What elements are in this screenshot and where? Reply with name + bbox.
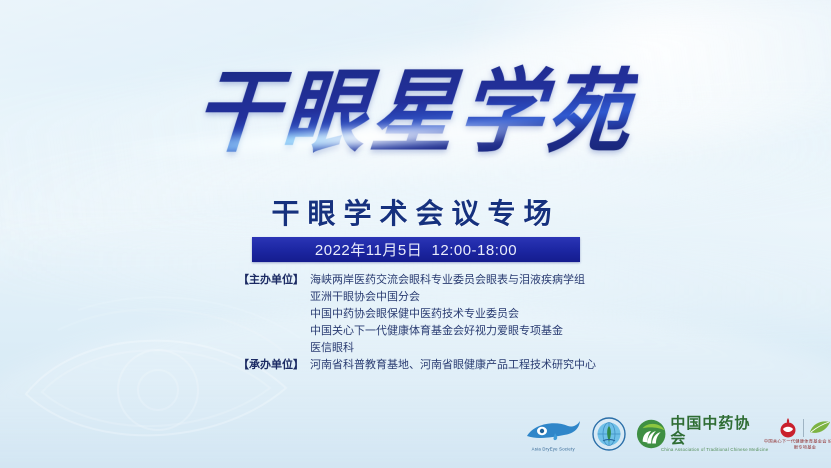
organizer-value: 医信眼科 [310,340,658,357]
green-leaf-icon [809,419,831,437]
cross-strait-medical-exchange-logo [592,417,626,452]
asia-dryeye-society-logo: Asia DryEye Society [524,418,582,451]
logo-title: 中国中药协会 [670,416,761,446]
organizer-row: 【主办单位】 亚洲干眼协会中国分会 [238,289,658,306]
red-flame-icon [778,417,798,439]
organizer-row: 【主办单位】 中国中药协会眼保健中医药技术专业委员会 [238,306,658,323]
logo-caption: China Association of Traditional Chinese… [661,448,768,453]
organizer-list: 【主办单位】 海峡两岸医药交流会眼科专业委员会眼表与泪液疾病学组 【主办单位】 … [238,272,658,374]
organizer-value: 中国中药协会眼保健中医药技术专业委员会 [310,306,658,323]
organizer-value: 河南省科普教育基地、河南省眼健康产品工程技术研究中心 [310,357,658,374]
organizer-label: 【承办单位】 [238,357,310,374]
main-title-block: 干眼星学苑 [0,68,831,156]
date-time-text: 2022年11月5日 12:00-18:00 [315,239,517,260]
dryeye-droplet-icon [524,418,582,446]
logo-caption: 中国关心下一代健康体育基金会 好视力爱眼专项基金 [763,439,831,452]
page-title: 干眼星学苑 [191,64,639,159]
organizer-row: 【承办单位】 河南省科普教育基地、河南省眼健康产品工程技术研究中心 [238,357,658,374]
good-vision-eye-care-fund-logo: 中国关心下一代健康体育基金会 好视力爱眼专项基金 [772,417,831,450]
organizer-value: 中国关心下一代健康体育基金会好视力爱眼专项基金 [310,323,658,340]
logo-divider [803,419,804,437]
date-time-banner: 2022年11月5日 12:00-18:00 [252,237,580,262]
organizer-label: 【主办单位】 [238,272,310,289]
organizer-value: 海峡两岸医药交流会眼科专业委员会眼表与泪液疾病学组 [310,272,658,289]
organizer-row: 【主办单位】 海峡两岸医药交流会眼科专业委员会眼表与泪液疾病学组 [238,272,658,289]
sponsor-logo-strip: Asia DryEye Society 中国中药协会 [524,406,824,462]
organizer-row: 【主办单位】 中国关心下一代健康体育基金会好视力爱眼专项基金 [238,323,658,340]
conference-poster: 干眼星学苑 干眼学术会议专场 2022年11月5日 12:00-18:00 【主… [0,0,831,468]
china-association-chinese-medicine-logo: 中国中药协会 China Association of Traditional … [636,416,762,452]
hands-leaf-icon [636,418,666,450]
subtitle: 干眼学术会议专场 [0,192,831,232]
organizer-value: 亚洲干眼协会中国分会 [310,289,658,306]
globe-emblem-icon [592,417,626,451]
logo-caption: Asia DryEye Society [531,446,574,451]
organizer-row: 【主办单位】 医信眼科 [238,340,658,357]
